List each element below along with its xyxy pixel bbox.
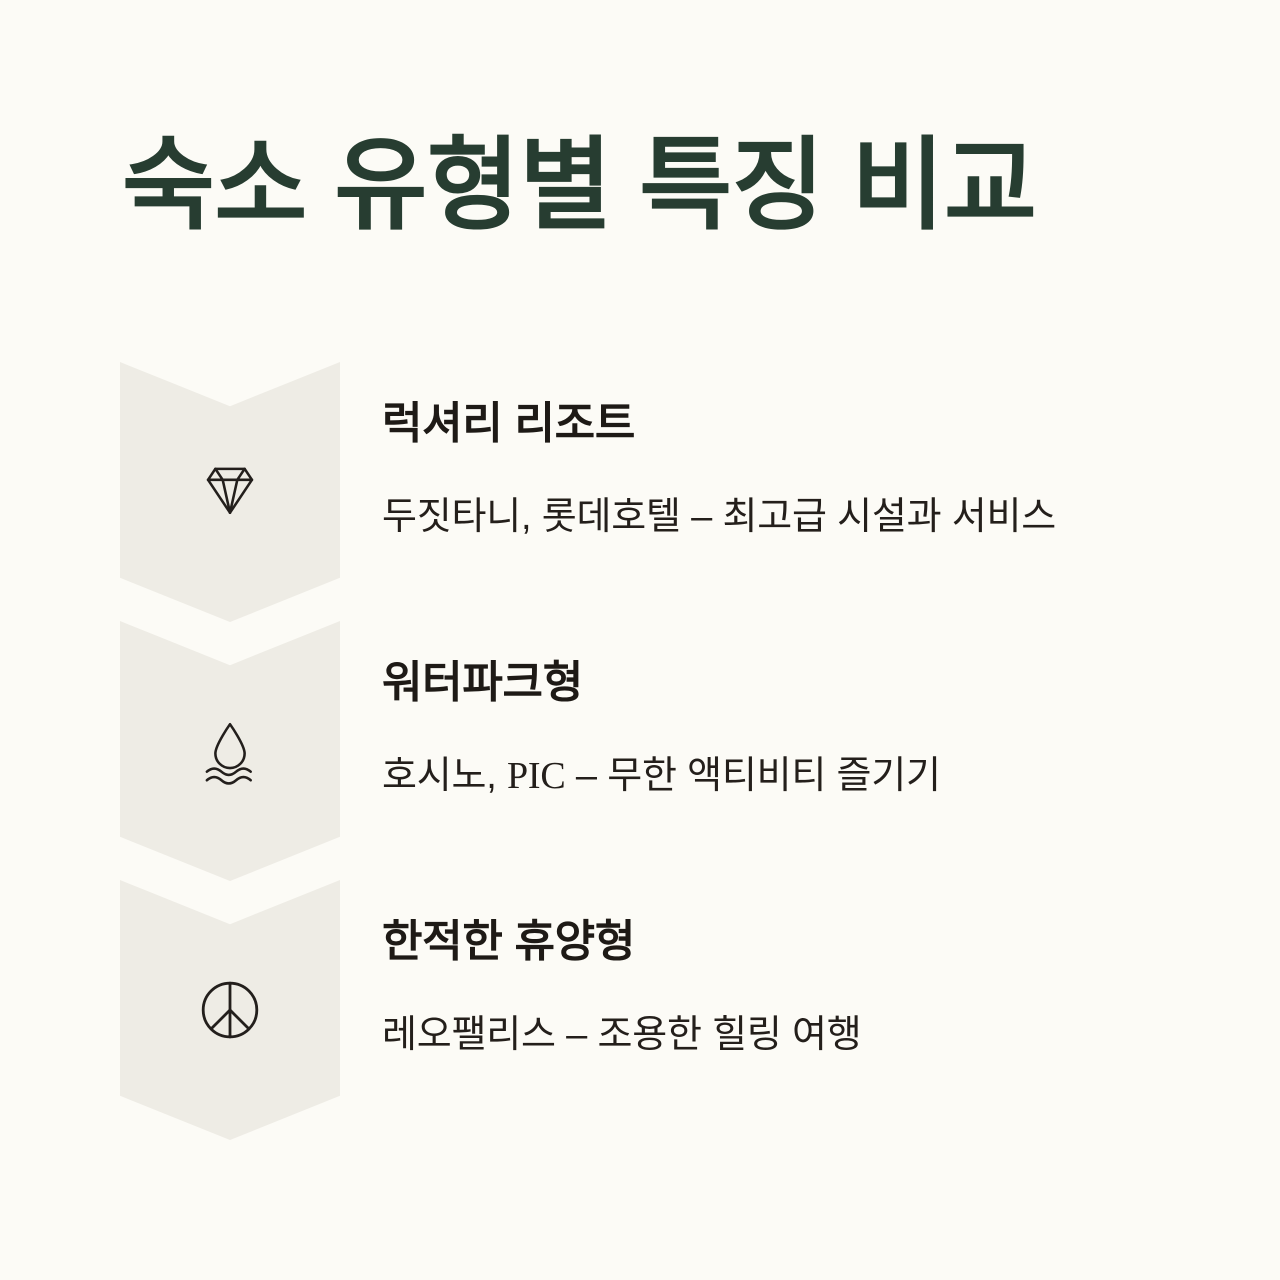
- row-text-block: 워터파크형 호시노, PIC – 무한 액티비티 즐기기: [382, 657, 1192, 800]
- row-description: 호시노, PIC – 무한 액티비티 즐기기: [382, 753, 1192, 801]
- row-heading: 럭셔리 리조트: [382, 398, 1192, 450]
- peace-sign-icon: [120, 880, 340, 1140]
- diamond-icon: [120, 362, 340, 622]
- row-text-block: 럭셔리 리조트 두짓타니, 롯데호텔 – 최고급 시설과 서비스: [382, 398, 1192, 541]
- comparison-infographic: 숙소 유형별 특징 비교 럭셔리 리조트 두짓타니, 롯데호텔 – 최고급 시설…: [0, 0, 1280, 1280]
- row-heading: 워터파크형: [382, 657, 1192, 709]
- row-heading: 한적한 휴양형: [382, 916, 1192, 968]
- latin-token: PIC: [507, 755, 566, 797]
- accommodation-type-list: 럭셔리 리조트 두짓타니, 롯데호텔 – 최고급 시설과 서비스 워터파크형 호…: [0, 0, 1280, 1280]
- row-description: 레오팰리스 – 조용한 힐링 여행: [382, 1012, 1192, 1060]
- water-drop-waves-icon: [120, 621, 340, 881]
- row-text-block: 한적한 휴양형 레오팰리스 – 조용한 힐링 여행: [382, 916, 1192, 1059]
- row-description: 두짓타니, 롯데호텔 – 최고급 시설과 서비스: [382, 494, 1192, 542]
